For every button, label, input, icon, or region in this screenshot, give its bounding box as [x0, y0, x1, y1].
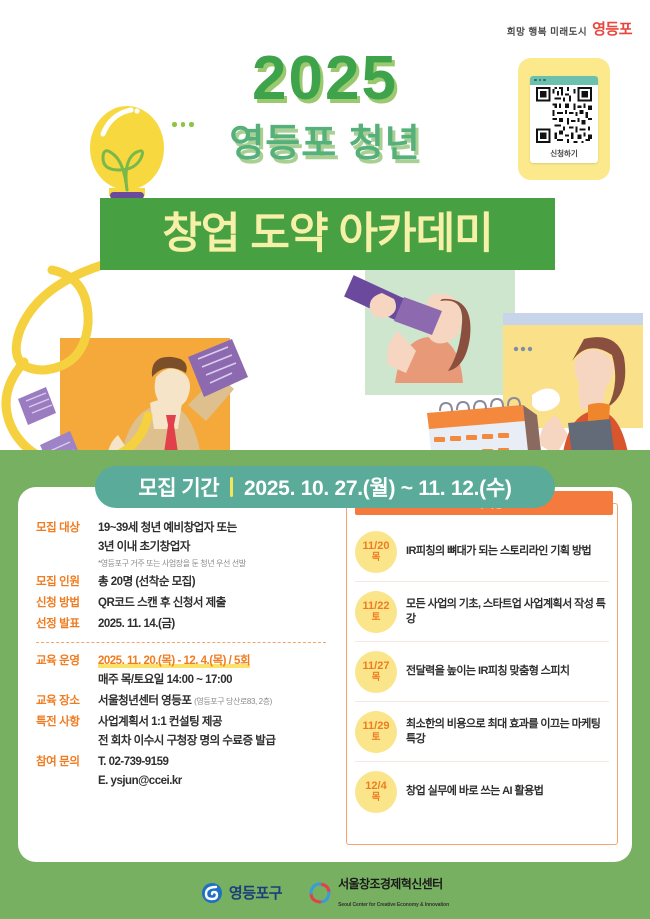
date-badge: 11/20 목	[355, 531, 397, 573]
curriculum-panel: 교육내용 11/20 목 IR피칭의 뼈대가 되는 스토리라인 기획 방법 11…	[346, 503, 618, 845]
info-value: 2025. 11. 14.(금)	[98, 615, 336, 634]
info-value: 총 20명 (선착순 모집)	[98, 573, 336, 592]
logo-yeongdeungpo: 영등포구	[201, 882, 282, 904]
curriculum-row: 11/20 목 IR피칭의 뼈대가 되는 스토리라인 기획 방법	[355, 522, 609, 582]
badge-date: 11/29	[363, 720, 390, 732]
badge-day: 목	[372, 552, 381, 563]
poster-year: 2025	[0, 48, 650, 110]
badge-date: 11/22	[363, 600, 390, 612]
brand-name: 영등포	[592, 22, 632, 37]
logo-ccei-en: Seoul Center for Creative Economy & Inno…	[338, 902, 449, 908]
info-row-announcement: 선정 발표 2025. 11. 14.(금)	[36, 615, 336, 634]
info-value: 사업계획서 1:1 컨설팅 제공	[98, 713, 336, 732]
curriculum-row: 11/27 목 전달력을 높이는 IR피칭 맞춤형 스피치	[355, 642, 609, 702]
logo-ccei-ko: 서울창조경제혁신센터	[338, 877, 442, 891]
curriculum-row: 11/29 토 최소한의 비용으로 최대 효과를 이끄는 마케팅 특강	[355, 702, 609, 762]
info-row-capacity: 모집 인원 총 20명 (선착순 모집)	[36, 573, 336, 592]
yellow-swirl-decoration	[0, 250, 260, 470]
info-value: 서울청년센터 영등포	[98, 695, 191, 707]
poster-title: 창업 도약 아카데미	[162, 213, 492, 256]
info-row-contact: 참여 문의 T. 02-739-9159 E. ysjun@ccei.kr	[36, 753, 336, 791]
info-card: 모집 대상 19~39세 청년 예비창업자 또는 3년 이내 초기창업자 *영등…	[18, 487, 632, 862]
info-label: 모집 인원	[36, 573, 98, 592]
brand-logo: 희망 행복 미래도시 영등포	[507, 22, 632, 37]
curriculum-title: 창업 실무에 바로 쓰는 AI 활용법	[406, 784, 543, 798]
info-address: (영등포구 당산로83, 2층)	[194, 697, 272, 706]
info-row-apply-method: 신청 방법 QR코드 스캔 후 신청서 제출	[36, 594, 336, 613]
info-label: 신청 방법	[36, 594, 98, 613]
date-badge: 12/4 목	[355, 771, 397, 813]
curriculum-row: 12/4 목 창업 실무에 바로 쓰는 AI 활용법	[355, 762, 609, 821]
ccei-mark-icon	[308, 881, 332, 905]
info-row-benefits: 특전 사항 사업계획서 1:1 컨설팅 제공 전 회차 이수시 구청장 명의 수…	[36, 713, 336, 751]
info-label: 참여 문의	[36, 753, 98, 791]
info-value: 매주 목/토요일 14:00 ~ 17:00	[98, 671, 336, 690]
date-badge: 11/22 토	[355, 591, 397, 633]
info-value: 3년 이내 초기창업자	[98, 538, 336, 557]
info-label: 특전 사항	[36, 713, 98, 751]
info-column: 모집 대상 19~39세 청년 예비창업자 또는 3년 이내 초기창업자 *영등…	[36, 519, 336, 793]
info-label: 교육 장소	[36, 692, 98, 711]
date-badge: 11/29 토	[355, 711, 397, 753]
badge-day: 목	[372, 792, 381, 803]
logo-yeongdeungpo-label: 영등포구	[229, 882, 282, 903]
badge-day: 목	[372, 672, 381, 683]
badge-day: 토	[372, 612, 381, 623]
info-value: QR코드 스캔 후 신청서 제출	[98, 594, 336, 613]
info-value: 전 회차 이수시 구청장 명의 수료증 발급	[98, 732, 336, 751]
info-value: 19~39세 청년 예비창업자 또는	[98, 519, 336, 538]
brand-subtitle: 희망 행복 미래도시	[507, 28, 587, 38]
info-row-target: 모집 대상 19~39세 청년 예비창업자 또는 3년 이내 초기창업자 *영등…	[36, 519, 336, 571]
info-label: 선정 발표	[36, 615, 98, 634]
curriculum-title: 모든 사업의 기초, 스타트업 사업계획서 작성 특강	[406, 597, 609, 626]
curriculum-title: 최소한의 비용으로 최대 효과를 이끄는 마케팅 특강	[406, 717, 609, 746]
logo-seoul-ccei: 서울창조경제혁신센터 Seoul Center for Creative Eco…	[308, 875, 449, 911]
recruitment-period-pill: 모집 기간 2025. 10. 27.(월) ~ 11. 12.(수)	[95, 466, 555, 508]
contact-email[interactable]: E. ysjun@ccei.kr	[98, 772, 336, 791]
info-note: *영등포구 거주 또는 사업장을 둔 청년 우선 선발	[98, 557, 336, 571]
info-label: 모집 대상	[36, 519, 98, 571]
pill-divider	[230, 477, 233, 497]
curriculum-list: 11/20 목 IR피칭의 뼈대가 되는 스토리라인 기획 방법 11/22 토…	[347, 522, 617, 844]
poster-title-banner: 창업 도약 아카데미	[100, 198, 555, 270]
logo-ccei-text: 서울창조경제혁신센터 Seoul Center for Creative Eco…	[338, 875, 449, 911]
poster-subtitle: 영등포 청년	[0, 125, 650, 163]
date-badge: 11/27 목	[355, 651, 397, 693]
contact-phone[interactable]: T. 02-739-9159	[98, 753, 336, 772]
poster-root: 희망 행복 미래도시 영등포	[0, 0, 650, 919]
badge-date: 11/20	[363, 540, 390, 552]
period-label: 모집 기간	[138, 472, 219, 502]
info-label: 교육 운영	[36, 652, 98, 690]
curriculum-title: IR피칭의 뼈대가 되는 스토리라인 기획 방법	[406, 544, 591, 558]
yeongdeungpo-mark-icon	[201, 882, 223, 904]
badge-date: 11/27	[363, 660, 390, 672]
curriculum-title: 전달력을 높이는 IR피칭 맞춤형 스피치	[406, 664, 569, 678]
info-value-highlight: 2025. 11. 20.(목) - 12. 4.(목) / 5회	[98, 655, 250, 668]
footer-logos: 영등포구 서울창조경제혁신센터 Seoul Center for Creativ…	[0, 866, 650, 919]
curriculum-row: 11/22 토 모든 사업의 기초, 스타트업 사업계획서 작성 특강	[355, 582, 609, 642]
info-row-location: 교육 장소 서울청년센터 영등포 (영등포구 당산로83, 2층)	[36, 692, 336, 711]
poster-header-area: 희망 행복 미래도시 영등포	[0, 0, 650, 470]
period-date: 2025. 10. 27.(월) ~ 11. 12.(수)	[244, 472, 512, 502]
dashed-divider	[36, 642, 326, 643]
info-row-schedule: 교육 운영 2025. 11. 20.(목) - 12. 4.(목) / 5회 …	[36, 652, 336, 690]
badge-date: 12/4	[365, 780, 386, 792]
badge-day: 토	[372, 732, 381, 743]
